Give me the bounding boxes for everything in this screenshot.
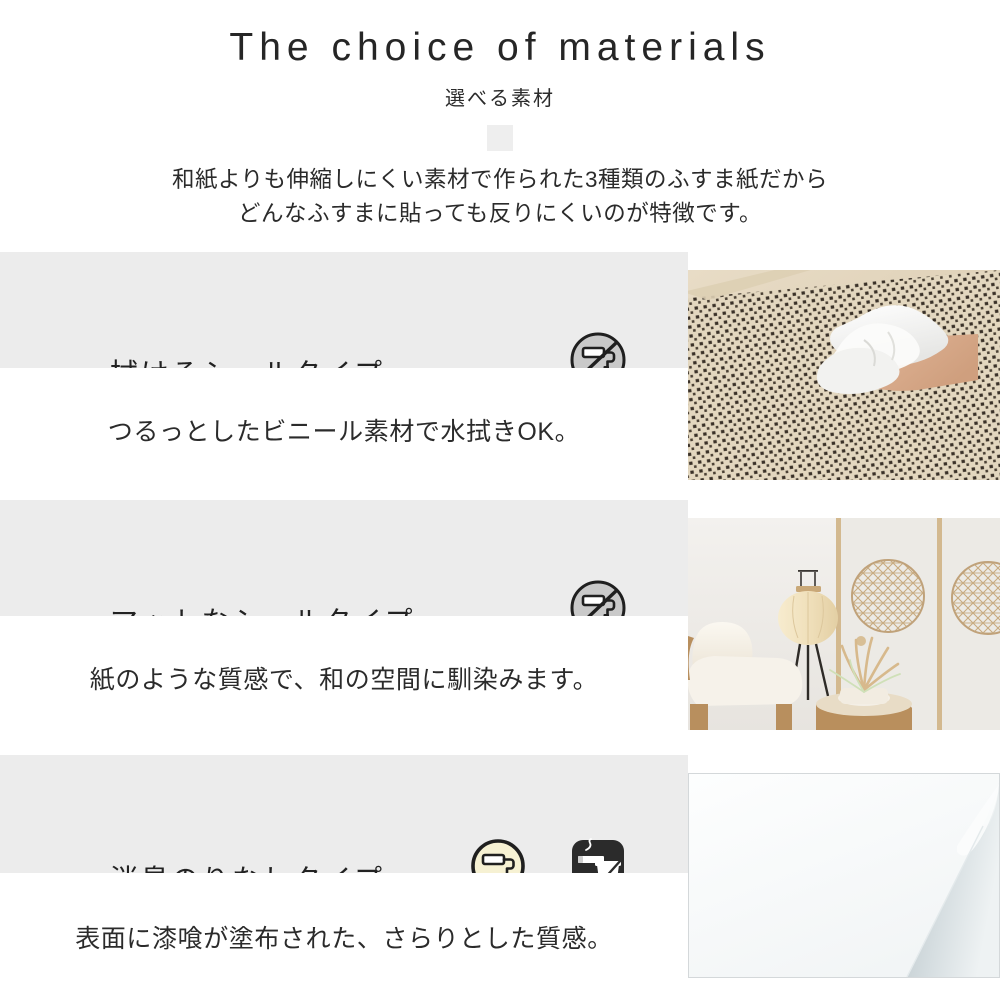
lead-line-1: 和紙よりも伸縮しにくい素材で作られた3種類のふすま紙だから (0, 163, 1000, 197)
section-1-description-wrap: つるっとしたビニール素材で水拭きOK。 (0, 368, 688, 492)
material-section-1: 拭けるシールタイプ のり不要 つるっとしたビニール素材で水拭きOK。 (0, 252, 1000, 492)
wiping-rattan-surface-illustration (688, 270, 1000, 480)
section-2-description-wrap: 紙のような質感で、和の空間に馴染みます。 (0, 616, 688, 740)
material-section-2: マットなシールタイプ のり不要 紙のような質感で、和の空間に馴染みます。 (0, 500, 1000, 740)
page-title: The choice of materials (0, 0, 1000, 73)
material-section-3: 消臭のりなしタイプ のり付け (0, 755, 1000, 1000)
page-subtitle: 選べる素材 (0, 73, 1000, 111)
bottom-strip (0, 994, 1000, 1000)
japandi-interior-illustration (688, 518, 1000, 730)
section-2-description: 紙のような質感で、和の空間に馴染みます。 (90, 660, 599, 696)
section-1-description: つるっとしたビニール素材で水拭きOK。 (108, 412, 581, 448)
page-header: The choice of materials 選べる素材 和紙よりも伸縮しにく… (0, 0, 1000, 231)
japandi-interior-photo (688, 518, 1000, 730)
white-paper-sheet-photo (688, 773, 1000, 978)
section-3-description-wrap: 表面に漆喰が塗布された、さらりとした質感。 (0, 873, 688, 1000)
divider-square (487, 125, 513, 151)
section-3-description: 表面に漆喰が塗布された、さらりとした質感。 (75, 919, 613, 955)
lead-line-2: どんなふすまに貼っても反りにくいのが特徴です。 (0, 197, 1000, 231)
wiping-rattan-surface-photo (688, 270, 1000, 480)
white-paper-sheet-illustration (689, 774, 999, 977)
page-lead-text: 和紙よりも伸縮しにくい素材で作られた3種類のふすま紙だから どんなふすまに貼って… (0, 151, 1000, 231)
